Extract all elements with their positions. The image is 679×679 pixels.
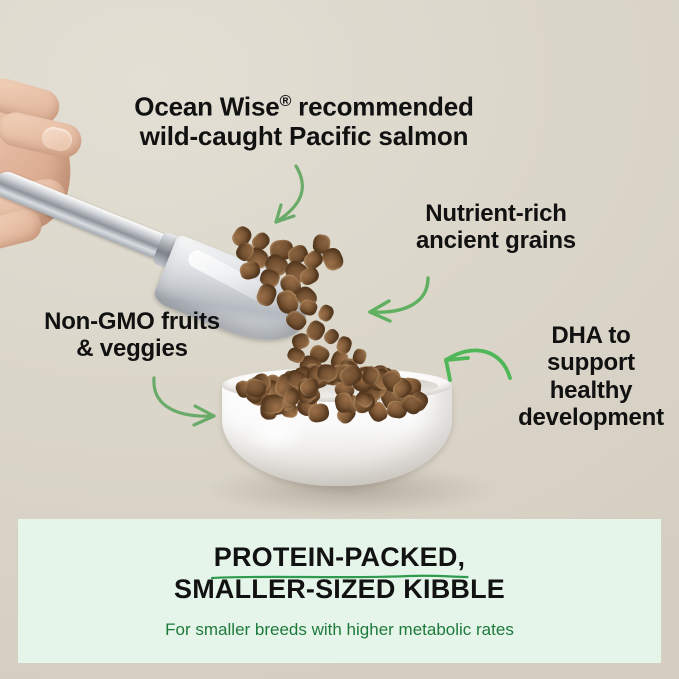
callout-dha-line3: healthy	[550, 377, 633, 404]
callout-salmon-line2: wild-caught Pacific salmon	[140, 121, 469, 151]
callout-salmon: Ocean Wise® recommended wild-caught Paci…	[118, 92, 490, 152]
callout-fruits-line1: Non-GMO fruits	[44, 308, 220, 335]
callout-dha-line4: development	[518, 404, 664, 431]
kibble-piece	[317, 364, 338, 382]
callout-dha-line1: DHA to	[551, 322, 630, 349]
callout-fruits: Non-GMO fruits & veggies	[18, 308, 246, 363]
callout-grains-line2: ancient grains	[416, 227, 576, 254]
callout-salmon-line1-rest: recommended	[291, 92, 474, 122]
callout-salmon-line1: Ocean Wise	[134, 92, 279, 122]
callout-fruits-line2: & veggies	[76, 335, 188, 362]
kibble-piece	[306, 402, 331, 425]
callout-grains: Nutrient-rich ancient grains	[396, 200, 596, 255]
callout-dha-line2: support	[547, 349, 635, 376]
infographic-image: Ocean Wise® recommended wild-caught Paci…	[0, 0, 679, 679]
registered-trademark-icon: ®	[279, 92, 291, 110]
bottom-banner: PROTEIN-PACKED, SMALLER-SIZED KIBBLE For…	[18, 519, 661, 663]
banner-headline-line1: PROTEIN-PACKED,	[214, 542, 466, 572]
banner-headline: PROTEIN-PACKED, SMALLER-SIZED KIBBLE	[174, 542, 505, 606]
callout-dha: DHA to support healthy development	[505, 322, 677, 431]
hand-drawn-underline-icon	[210, 573, 470, 581]
banner-subtitle: For smaller breeds with higher metabolic…	[165, 620, 514, 640]
banner-headline-line1-wrap: PROTEIN-PACKED,	[214, 542, 466, 574]
callout-grains-line1: Nutrient-rich	[425, 200, 566, 227]
